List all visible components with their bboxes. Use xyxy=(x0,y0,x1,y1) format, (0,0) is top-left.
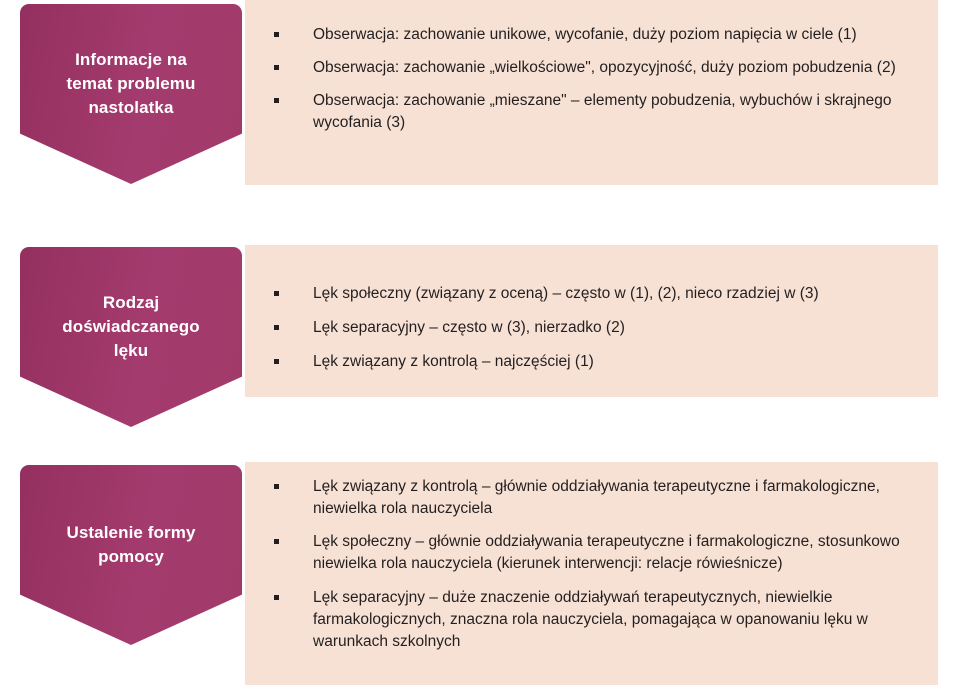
square-bullet-icon xyxy=(274,32,279,37)
stage-badge-2: Rodzaj doświadczanego lęku xyxy=(20,247,242,427)
list-item: Lęk związany z kontrolą – najczęściej (1… xyxy=(274,351,916,373)
stage-badge-3: Ustalenie formy pomocy xyxy=(20,465,242,645)
content-panel-2: Lęk społeczny (związany z oceną) – częst… xyxy=(245,245,938,397)
bullet-list-2: Lęk społeczny (związany z oceną) – częst… xyxy=(274,283,916,385)
bullet-list-3: Lęk związany z kontrolą – głównie oddzia… xyxy=(274,476,916,664)
diagram-row-1: Obserwacja: zachowanie unikowe, wycofani… xyxy=(0,0,980,240)
list-item-text: Lęk społeczny (związany z oceną) – częst… xyxy=(313,283,916,305)
list-item: Lęk związany z kontrolą – głównie oddzia… xyxy=(274,476,916,520)
square-bullet-icon xyxy=(274,65,279,70)
square-bullet-icon xyxy=(274,539,279,544)
stage-badge-label: Informacje na temat problemu nastolatka xyxy=(55,48,208,120)
stage-badge-label: Rodzaj doświadczanego lęku xyxy=(50,291,211,363)
content-panel-3: Lęk związany z kontrolą – głównie oddzia… xyxy=(245,462,938,685)
bullet-list-1: Obserwacja: zachowanie unikowe, wycofani… xyxy=(274,24,916,146)
diagram-row-3: Lęk związany z kontrolą – głównie oddzia… xyxy=(0,462,980,685)
list-item-text: Lęk separacyjny – duże znaczenie oddział… xyxy=(313,587,916,653)
list-item-text: Obserwacja: zachowanie unikowe, wycofani… xyxy=(313,24,916,46)
square-bullet-icon xyxy=(274,325,279,330)
square-bullet-icon xyxy=(274,291,279,296)
list-item-text: Lęk związany z kontrolą – głównie oddzia… xyxy=(313,476,916,520)
list-item-text: Obserwacja: zachowanie „wielkościowe", o… xyxy=(313,57,916,79)
list-item: Obserwacja: zachowanie „mieszane" – elem… xyxy=(274,90,916,134)
process-diagram: Obserwacja: zachowanie unikowe, wycofani… xyxy=(0,0,980,685)
list-item: Obserwacja: zachowanie unikowe, wycofani… xyxy=(274,24,916,46)
list-item: Obserwacja: zachowanie „wielkościowe", o… xyxy=(274,57,916,79)
diagram-row-2: Lęk społeczny (związany z oceną) – częst… xyxy=(0,245,980,460)
list-item: Lęk społeczny – głównie oddziaływania te… xyxy=(274,531,916,575)
list-item-text: Lęk społeczny – głównie oddziaływania te… xyxy=(313,531,916,575)
list-item-text: Obserwacja: zachowanie „mieszane" – elem… xyxy=(313,90,916,134)
content-panel-1: Obserwacja: zachowanie unikowe, wycofani… xyxy=(245,0,938,185)
list-item: Lęk społeczny (związany z oceną) – częst… xyxy=(274,283,916,305)
square-bullet-icon xyxy=(274,359,279,364)
list-item: Lęk separacyjny – często w (3), nierzadk… xyxy=(274,317,916,339)
square-bullet-icon xyxy=(274,98,279,103)
list-item-text: Lęk związany z kontrolą – najczęściej (1… xyxy=(313,351,916,373)
square-bullet-icon xyxy=(274,595,279,600)
square-bullet-icon xyxy=(274,484,279,489)
stage-badge-1: Informacje na temat problemu nastolatka xyxy=(20,4,242,184)
stage-badge-label: Ustalenie formy pomocy xyxy=(54,521,207,569)
list-item-text: Lęk separacyjny – często w (3), nierzadk… xyxy=(313,317,916,339)
list-item: Lęk separacyjny – duże znaczenie oddział… xyxy=(274,587,916,653)
